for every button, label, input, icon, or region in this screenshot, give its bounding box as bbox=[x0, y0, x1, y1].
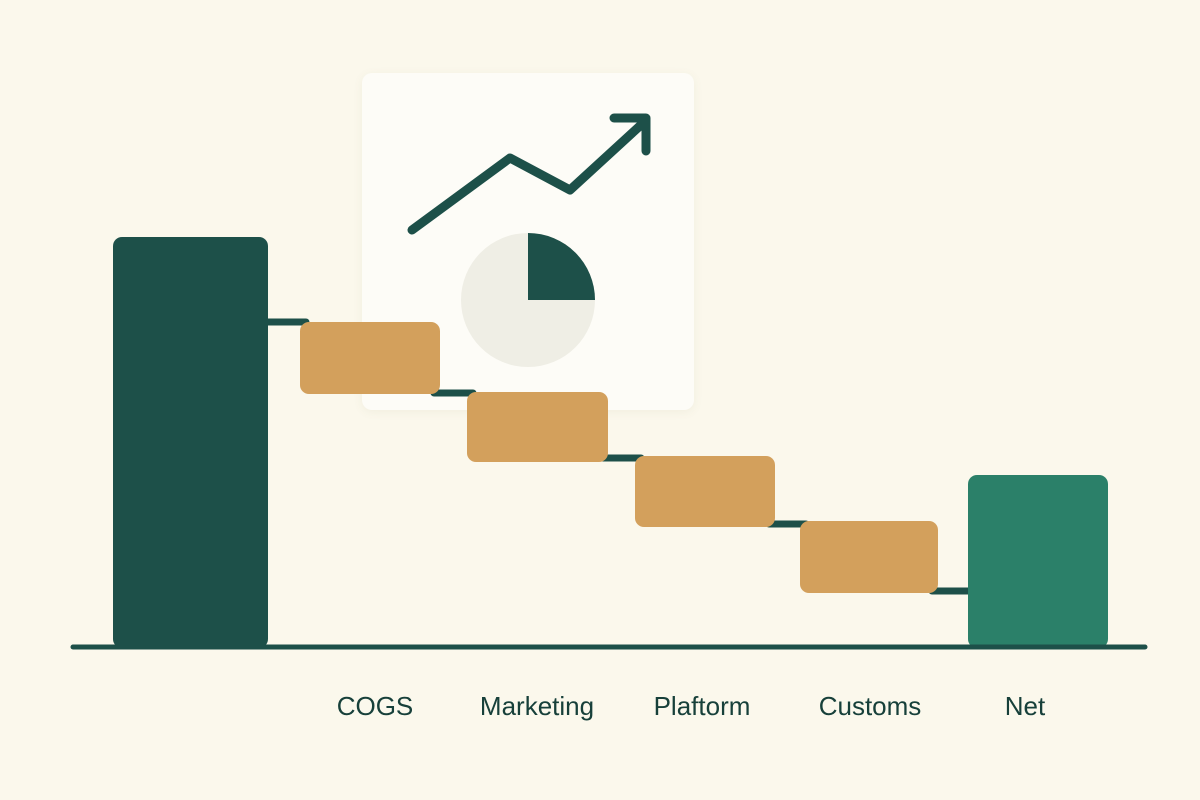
chart-canvas: COGSMarketingPlaftormCustomsNet bbox=[0, 0, 1200, 800]
waterfall-bar-revenue[interactable] bbox=[113, 237, 268, 648]
axis-label-net: Net bbox=[1005, 690, 1045, 722]
axis-tick-labels: COGSMarketingPlaftormCustomsNet bbox=[0, 690, 1200, 734]
axis-label-marketing: Marketing bbox=[480, 690, 594, 722]
waterfall-bar-marketing[interactable] bbox=[467, 392, 608, 462]
waterfall-bar-cogs[interactable] bbox=[300, 322, 440, 394]
axis-label-plaftorm: Plaftorm bbox=[654, 690, 751, 722]
waterfall-bar-net[interactable] bbox=[968, 475, 1108, 648]
axis-label-cogs: COGS bbox=[337, 690, 414, 722]
waterfall-bar-customs[interactable] bbox=[800, 521, 938, 593]
axis-label-customs: Customs bbox=[819, 690, 922, 722]
bar-group bbox=[113, 237, 1108, 648]
waterfall-bar-plaftorm[interactable] bbox=[635, 456, 775, 527]
waterfall-plot bbox=[0, 0, 1200, 800]
